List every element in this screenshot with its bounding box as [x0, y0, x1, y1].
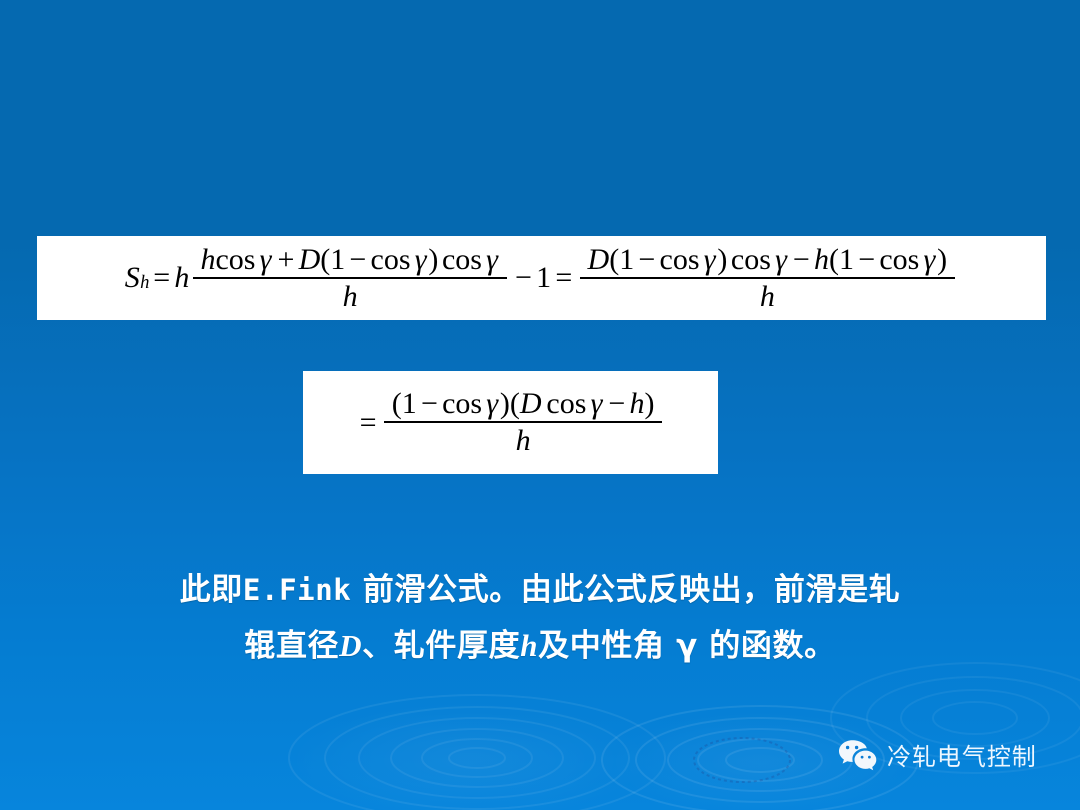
fraction-1: hcosγ+D(1−cosγ)cosγ h — [193, 245, 507, 312]
caption-author-name: E.Fink — [243, 573, 351, 607]
num3-one: 1 — [402, 387, 417, 420]
num3-gamma-1: γ — [484, 387, 499, 420]
num1-paren-close: ) — [428, 243, 438, 276]
num2-cos-2: cos — [727, 243, 773, 276]
num3-paren-open-2: ( — [510, 387, 520, 420]
equation-box-secondary: = (1−cosγ)(Dcosγ−h) h — [303, 371, 718, 474]
num1-gamma-3: γ — [484, 243, 499, 276]
num3-cos-2: cos — [542, 387, 589, 420]
subscript-h: h — [140, 274, 149, 293]
equation-2: = (1−cosγ)(Dcosγ−h) h — [355, 389, 665, 456]
fraction-1-numerator: hcosγ+D(1−cosγ)cosγ — [193, 245, 507, 277]
num3-minus-1: − — [417, 387, 442, 420]
watermark-label: 冷轧电气控制 — [887, 737, 1037, 772]
caption-line-1: 此即E.Fink 前滑公式。由此公式反映出，前滑是轧 — [0, 562, 1080, 618]
fraction-2: D(1−cosγ)cosγ−h(1−cosγ) h — [580, 245, 955, 312]
num2-minus-3: − — [854, 243, 879, 276]
num3-paren-close-2: ) — [644, 387, 654, 420]
num1-plus: + — [273, 243, 298, 276]
num2-paren-open-2: ( — [829, 243, 839, 276]
num3-D: D — [520, 387, 542, 420]
num2-one-1: 1 — [619, 243, 634, 276]
num2-one-2: 1 — [839, 243, 854, 276]
equals-sign-2: = — [551, 263, 576, 293]
number-one: 1 — [536, 263, 551, 293]
equation-box-primary: Sh = h hcosγ+D(1−cosγ)cosγ h −1 = D(1−co… — [37, 236, 1046, 320]
num2-minus-1: − — [634, 243, 659, 276]
caption-line1-suffix: 前滑公式。由此公式反映出，前滑是轧 — [351, 572, 900, 608]
num1-gamma-2: γ — [413, 243, 428, 276]
num2-cos-1: cos — [660, 243, 702, 276]
wechat-watermark: 冷轧电气控制 — [838, 737, 1037, 772]
num2-gamma-2: γ — [773, 243, 788, 276]
caption-text: 此即E.Fink 前滑公式。由此公式反映出，前滑是轧 辊直径D、轧件厚度h及中性… — [0, 562, 1080, 674]
num3-h: h — [629, 387, 644, 420]
num3-paren-close-1: ) — [500, 387, 510, 420]
leading-factor-h: h — [174, 263, 189, 293]
num2-h: h — [814, 243, 829, 276]
num1-D: D — [299, 243, 321, 276]
minus-operator: − — [511, 263, 536, 293]
caption-var-h: h — [520, 628, 538, 663]
wechat-icon — [838, 739, 878, 771]
fraction-2-denominator: h — [580, 279, 955, 312]
fraction-1-denominator: h — [193, 279, 507, 312]
slide-canvas: Sh = h hcosγ+D(1−cosγ)cosγ h −1 = D(1−co… — [0, 0, 1080, 810]
equation-1: Sh = h hcosγ+D(1−cosγ)cosγ h −1 = D(1−co… — [125, 245, 958, 312]
num2-paren-open-1: ( — [609, 243, 619, 276]
num2-gamma-1: γ — [702, 243, 717, 276]
fraction-2-numerator: D(1−cosγ)cosγ−h(1−cosγ) — [580, 245, 955, 277]
num1-minus: − — [345, 243, 370, 276]
caption-var-gamma: γ — [676, 628, 698, 664]
equals-sign-3: = — [355, 408, 380, 438]
fraction-3: (1−cosγ)(Dcosγ−h) h — [384, 389, 662, 456]
caption-line2-mid2: 及中性角 — [538, 628, 676, 664]
num3-paren-open-1: ( — [392, 387, 402, 420]
num1-one: 1 — [330, 243, 345, 276]
num2-gamma-3: γ — [922, 243, 937, 276]
num1-h: h — [200, 243, 215, 276]
fraction-3-denominator: h — [384, 423, 662, 456]
num3-gamma-2: γ — [589, 387, 604, 420]
equals-sign-1: = — [149, 263, 174, 293]
num2-D: D — [588, 243, 610, 276]
num2-paren-close-1: ) — [717, 243, 727, 276]
num1-paren-open: ( — [320, 243, 330, 276]
num1-cos-1: cos — [215, 243, 257, 276]
num3-minus-2: − — [604, 387, 629, 420]
caption-line-2: 辊直径D、轧件厚度h及中性角 γ 的函数。 — [0, 618, 1080, 674]
caption-line1-prefix: 此即 — [180, 572, 243, 608]
num2-paren-close-2: ) — [937, 243, 947, 276]
caption-var-D: D — [339, 628, 362, 663]
caption-line2-mid1: 、轧件厚度 — [362, 628, 520, 664]
num2-minus-2: − — [789, 243, 814, 276]
num1-cos-3: cos — [438, 243, 484, 276]
num3-cos-1: cos — [442, 387, 484, 420]
caption-line2-suffix: 的函数。 — [698, 628, 836, 664]
fraction-3-numerator: (1−cosγ)(Dcosγ−h) — [384, 389, 662, 421]
caption-line2-prefix: 辊直径 — [244, 628, 339, 664]
num2-cos-3: cos — [879, 243, 921, 276]
symbol-S: S — [125, 263, 140, 293]
num1-gamma-1: γ — [258, 243, 273, 276]
num1-cos-2: cos — [371, 243, 413, 276]
